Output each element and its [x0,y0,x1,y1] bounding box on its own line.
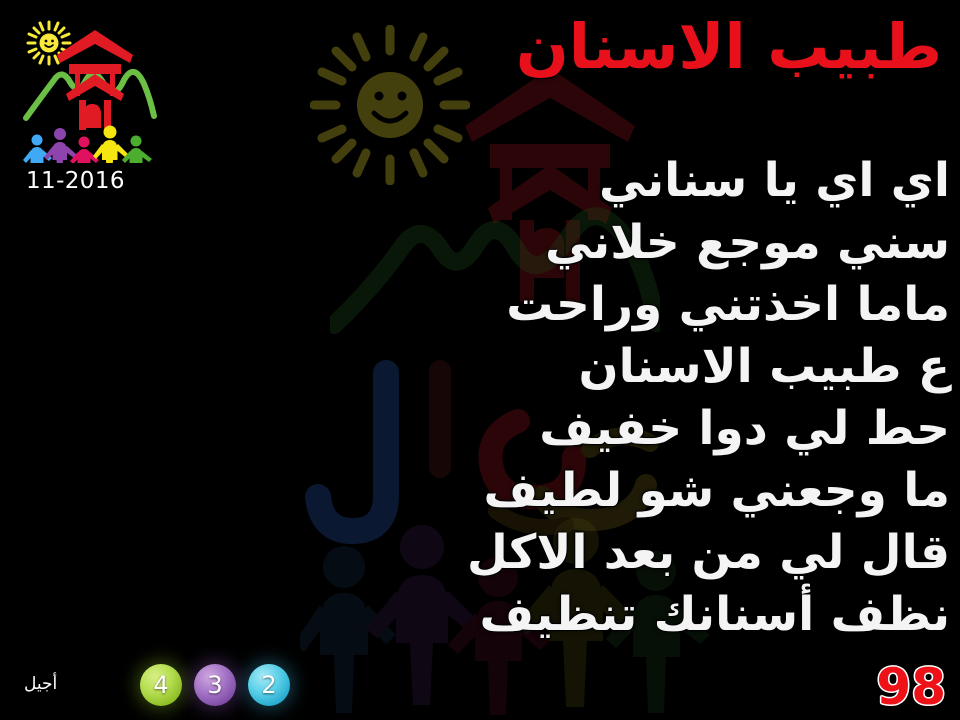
poem-line: قال لي من بعد الاكل [10,522,950,584]
level-badge-4[interactable]: 4 [140,664,182,706]
poem-line: ع طبيب الاسنان [10,336,950,398]
level-badge-3[interactable]: 3 [194,664,236,706]
poem-line: ماما اخذتني وراحت [10,274,950,336]
poem-body: اي اي يا سناني سني موجع خلاني ماما اخذتن… [10,150,950,646]
level-badge-2[interactable]: 2 [248,664,290,706]
poem-line: سني موجع خلاني [10,212,950,274]
level-badges: 4 3 2 [140,664,290,706]
poem-line: اي اي يا سناني [10,150,950,212]
poem-line: ما وجعني شو لطيف [10,460,950,522]
page-title: طبيب الاسنان [342,14,942,79]
poem-line: حط لي دوا خفيف [10,398,950,460]
brand-label: أجيل [24,674,57,694]
page-number: 98 [876,662,946,712]
slide-canvas: 11-2016 طبيب الاسنان اي اي يا سناني سني … [0,0,960,720]
ajyal-logo-icon [20,18,160,163]
poem-line: نظف أسنانك تنظيف [10,584,950,646]
